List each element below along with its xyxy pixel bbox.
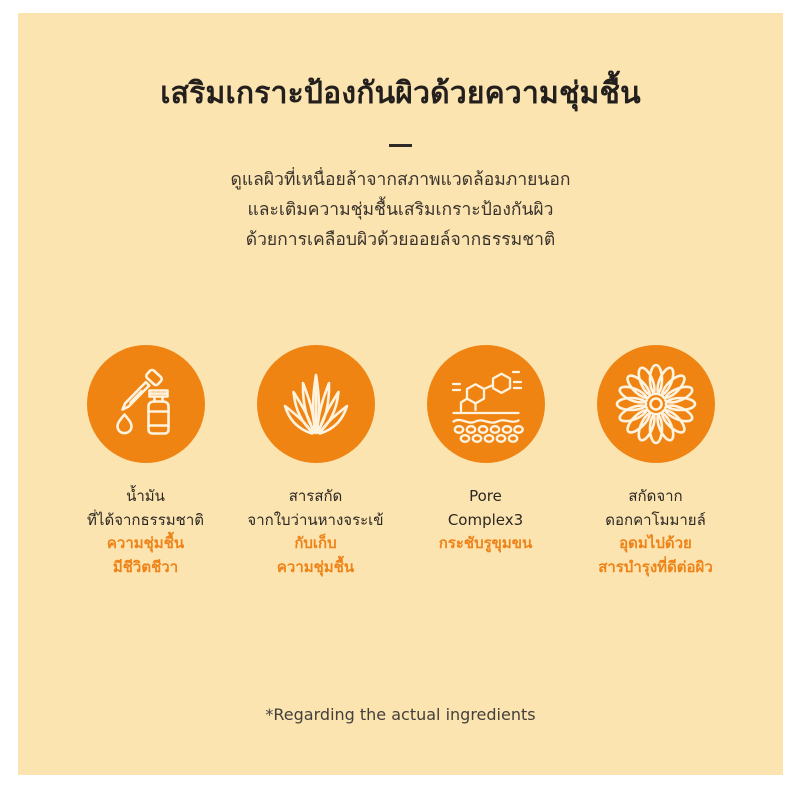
dropper-bottle-icon: [105, 363, 187, 445]
feature-item-chamomile: สกัดจาก ดอกคาโมมายล์ อุดมไปด้วย สารบำรุง…: [571, 345, 741, 580]
caption-accent-line-2: สารบำรุงที่ดีต่อผิว: [571, 556, 741, 580]
subtitle-line-1: ดูแลผิวที่เหนื่อยล้าจากสภาพแวดล้อมภายนอก: [18, 165, 783, 195]
footnote: *Regarding the actual ingredients: [18, 705, 783, 724]
caption-dark-line-2: ดอกคาโมมายล์: [571, 509, 741, 533]
caption-dark-line-2: จากใบว่านหางจระเข้: [231, 509, 401, 533]
feature-item-aloe-vera: สารสกัด จากใบว่านหางจระเข้ กับเก็บ ความช…: [231, 345, 401, 580]
aloe-vera-icon: [274, 362, 358, 446]
subtitle-line-3: ด้วยการเคลือบผิวด้วยออยล์จากธรรมชาติ: [18, 225, 783, 255]
caption-dark-line-2: ที่ได้จากธรรมชาติ: [61, 509, 231, 533]
subtitle-line-2: และเติมความชุ่มชื้นเสริมเกราะป้องกันผิว: [18, 195, 783, 225]
feature-caption: สารสกัด จากใบว่านหางจระเข้ กับเก็บ ความช…: [231, 485, 401, 580]
header: เสริมเกราะป้องกันผิวด้วยความชุ่มชื้น ดูแ…: [18, 13, 783, 255]
chamomile-flower-icon: [615, 363, 697, 445]
caption-accent-line-2: ความชุ่มชื้น: [231, 556, 401, 580]
feature-item-pore-complex: Pore Complex3 กระชับรูขุมขน: [401, 345, 571, 556]
feature-caption: น้ำมัน ที่ได้จากธรรมชาติ ความชุ่มชื้น มี…: [61, 485, 231, 580]
title-divider: [389, 144, 412, 147]
feature-item-natural-oil: น้ำมัน ที่ได้จากธรรมชาติ ความชุ่มชื้น มี…: [61, 345, 231, 580]
caption-accent-line-1: อุดมไปด้วย: [571, 532, 741, 556]
title-divider-wrap: [18, 132, 783, 151]
feature-icon-circle: [597, 345, 715, 463]
molecule-skin-pores-icon: [443, 361, 529, 447]
feature-caption: Pore Complex3 กระชับรูขุมขน: [401, 485, 571, 556]
promo-panel: เสริมเกราะป้องกันผิวด้วยความชุ่มชื้น ดูแ…: [18, 13, 783, 775]
feature-icon-circle: [257, 345, 375, 463]
caption-dark-line-2: Complex3: [401, 509, 571, 533]
feature-list: น้ำมัน ที่ได้จากธรรมชาติ ความชุ่มชื้น มี…: [18, 345, 783, 580]
feature-caption: สกัดจาก ดอกคาโมมายล์ อุดมไปด้วย สารบำรุง…: [571, 485, 741, 580]
caption-accent-line-2: มีชีวิตชีวา: [61, 556, 231, 580]
caption-dark-line-1: สกัดจาก: [571, 485, 741, 509]
caption-dark-line-1: น้ำมัน: [61, 485, 231, 509]
feature-icon-circle: [427, 345, 545, 463]
feature-icon-circle: [87, 345, 205, 463]
caption-accent-line-1: กระชับรูขุมขน: [401, 532, 571, 556]
caption-accent-line-1: กับเก็บ: [231, 532, 401, 556]
caption-accent-line-1: ความชุ่มชื้น: [61, 532, 231, 556]
page-title: เสริมเกราะป้องกันผิวด้วยความชุ่มชื้น: [18, 75, 783, 113]
caption-dark-line-1: สารสกัด: [231, 485, 401, 509]
caption-dark-line-1: Pore: [401, 485, 571, 509]
subtitle: ดูแลผิวที่เหนื่อยล้าจากสภาพแวดล้อมภายนอก…: [18, 165, 783, 255]
